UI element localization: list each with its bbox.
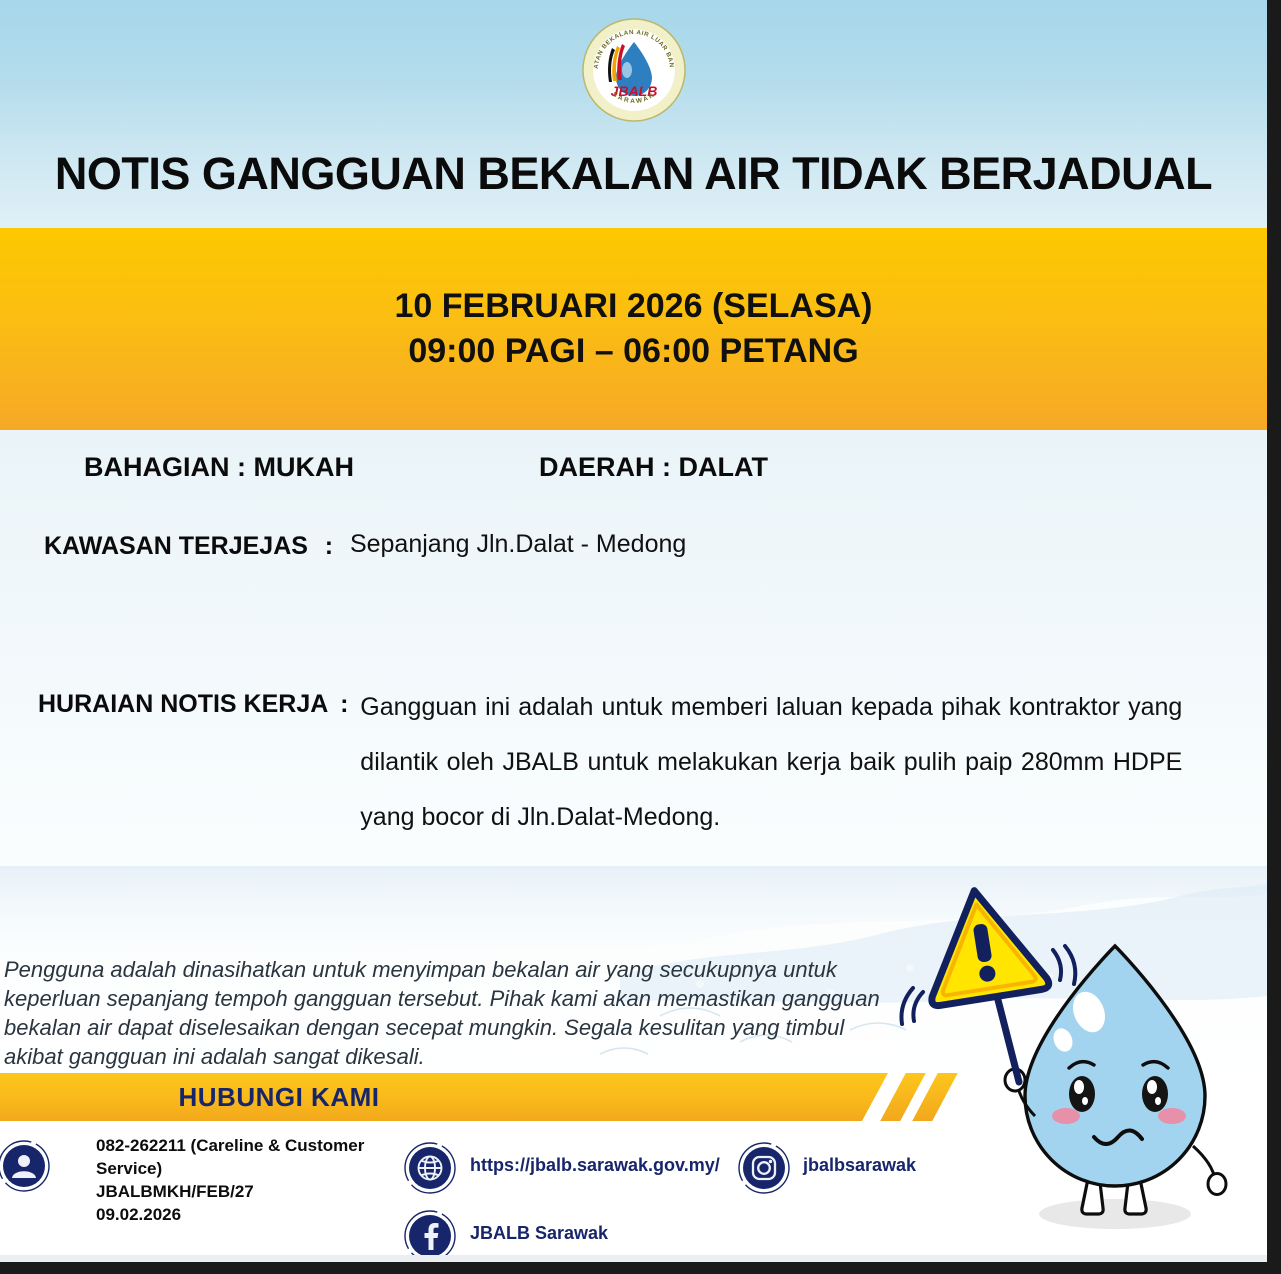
water-disruption-notice-poster: JBALB JABATAN BEKALAN AIR LUAR BANDAR SA… [0,0,1267,1262]
phone-contact-text: 082-262211 (Careline & Customer Service)… [96,1134,386,1226]
phone-number: 082-262211 (Careline & Customer Service) [96,1134,386,1180]
instagram-handle[interactable]: jbalbsarawak [803,1154,916,1177]
facebook-page[interactable]: JBALB Sarawak [470,1222,608,1245]
affected-area-value: Sepanjang Jln.Dalat - Medong [350,530,686,559]
reference-number: JBALBMKH/FEB/27 [96,1180,386,1203]
website-url[interactable]: https://jbalb.sarawak.gov.my/ [470,1154,720,1177]
affected-area-colon: : [308,530,350,561]
contact-banner: HUBUNGI KAMI [0,1073,888,1121]
district-label: DAERAH : DALAT [539,452,768,483]
person-icon [0,1140,50,1192]
work-description-colon: : [328,680,360,719]
affected-area-label: KAWASAN TERJEJAS [44,530,308,561]
poster-header: JBALB JABATAN BEKALAN AIR LUAR BANDAR SA… [0,0,1267,228]
work-description-label: HURAIAN NOTIS KERJA [38,680,328,719]
globe-icon[interactable] [404,1142,456,1194]
notice-date: 10 FEBRUARI 2026 (SELASA) [394,287,872,326]
issued-date: 09.02.2026 [96,1203,386,1226]
contact-details: 082-262211 (Careline & Customer Service)… [0,1128,1000,1262]
page-title: NOTIS GANGGUAN BEKALAN AIR TIDAK BERJADU… [0,148,1267,200]
affected-area-row: KAWASAN TERJEJAS : Sepanjang Jln.Dalat -… [0,530,1267,561]
work-description-value: Gangguan ini adalah untuk memberi laluan… [360,680,1182,845]
jbalb-logo: JBALB JABATAN BEKALAN AIR LUAR BANDAR SA… [582,18,686,122]
instagram-icon[interactable] [738,1142,790,1194]
region-row: BAHAGIAN : MUKAH DAERAH : DALAT [0,452,1267,483]
date-time-banner: 10 FEBRUARI 2026 (SELASA) 09:00 PAGI – 0… [0,228,1267,430]
contact-banner-title: HUBUNGI KAMI [179,1082,710,1113]
notice-time: 09:00 PAGI – 06:00 PETANG [408,332,858,371]
work-description-row: HURAIAN NOTIS KERJA : Gangguan ini adala… [0,680,1267,845]
bottom-edge-band [0,1255,1267,1262]
advisory-paragraph: Pengguna adalah dinasihatkan untuk menyi… [4,955,904,1071]
division-label: BAHAGIAN : MUKAH [84,452,539,483]
